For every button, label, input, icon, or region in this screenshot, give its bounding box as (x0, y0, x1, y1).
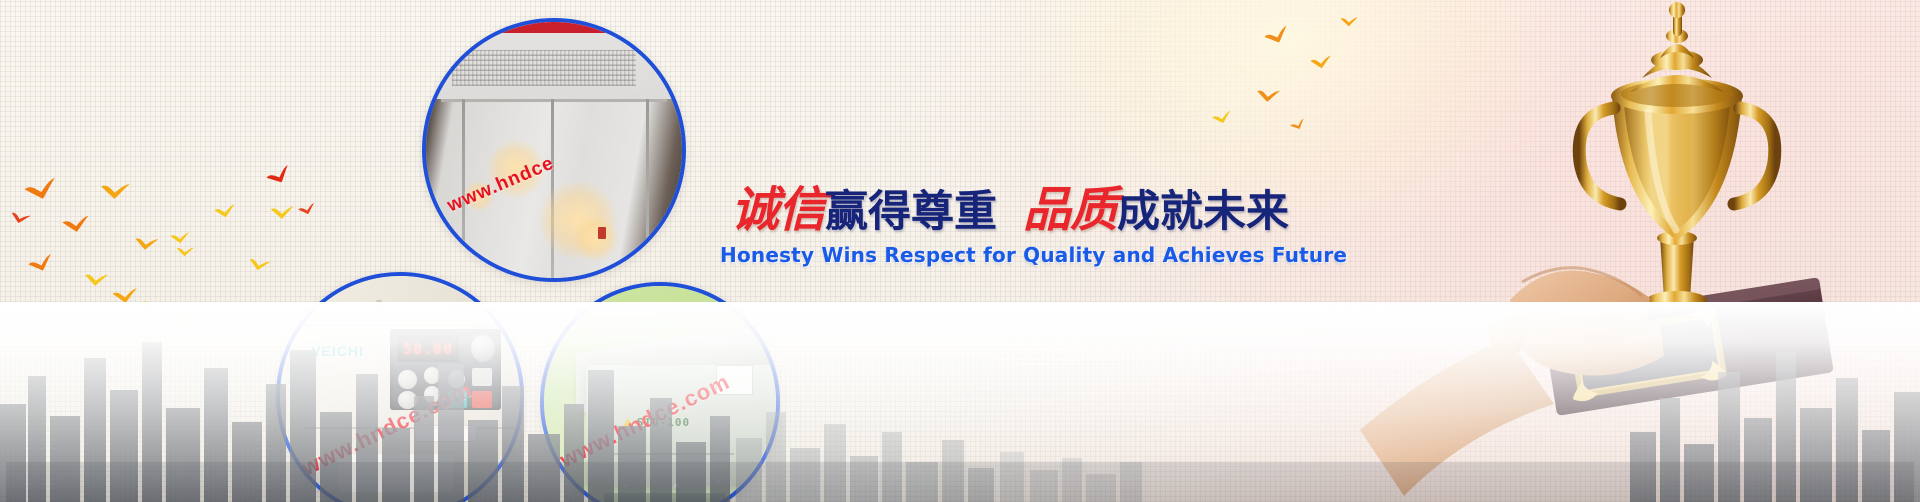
vfd-display-value: 50.00 (403, 340, 453, 358)
std100-photo: STD-100 (544, 286, 776, 502)
bird-icon (213, 204, 237, 220)
bird-icon (26, 253, 55, 276)
bird-icon (9, 209, 32, 227)
bird-icon (270, 205, 295, 221)
headline-navy-2: 成就未来 (1117, 187, 1289, 237)
bird-icon (22, 177, 59, 204)
bird-icon (175, 245, 194, 258)
bird-icon (133, 234, 159, 253)
bird-icon (61, 215, 91, 235)
bird-icon (1340, 15, 1359, 27)
bird-icon (1211, 110, 1233, 126)
cabinet-photo (426, 22, 682, 278)
trophy-illustration: No. 1 (1360, 0, 1920, 502)
bird-icon (1309, 55, 1332, 70)
product-photo-std-100[interactable]: STD-100 www.hndce.com (540, 282, 780, 502)
bird-icon (83, 270, 109, 288)
bird-icon (297, 202, 317, 217)
bird-icon (99, 181, 130, 201)
headline-line-1: 诚信赢得尊重品质成就未来 (720, 186, 1300, 234)
std100-model-label: STD-100 (637, 416, 690, 429)
headline-red-2: 品质 (1023, 182, 1117, 238)
headline-navy-1: 赢得尊重 (825, 187, 997, 237)
bird-icon (1262, 24, 1292, 47)
product-photo-veichi-vfd[interactable]: VEICHI 50.00 www.hndce.com (276, 272, 524, 502)
vfd-photo: VEICHI 50.00 (280, 276, 520, 502)
promo-banner: www.hndce VEICHI 50.00 (0, 0, 1920, 502)
headline-red-1: 诚信 (731, 182, 825, 238)
bird-icon (264, 164, 294, 189)
bird-icon (247, 255, 272, 274)
product-photo-control-cabinets[interactable]: www.hndce (422, 18, 686, 282)
bird-icon (170, 231, 191, 244)
bird-icon (1255, 86, 1281, 104)
bird-icon (177, 313, 196, 326)
headline-block: 诚信赢得尊重品质成就未来 Honesty Wins Respect for Qu… (720, 186, 1300, 267)
headline-subtitle: Honesty Wins Respect for Quality and Ach… (720, 243, 1300, 267)
bird-icon (141, 298, 163, 314)
bird-icon (1289, 118, 1307, 133)
bird-icon (111, 287, 138, 305)
vfd-brand-label: VEICHI (311, 343, 364, 359)
